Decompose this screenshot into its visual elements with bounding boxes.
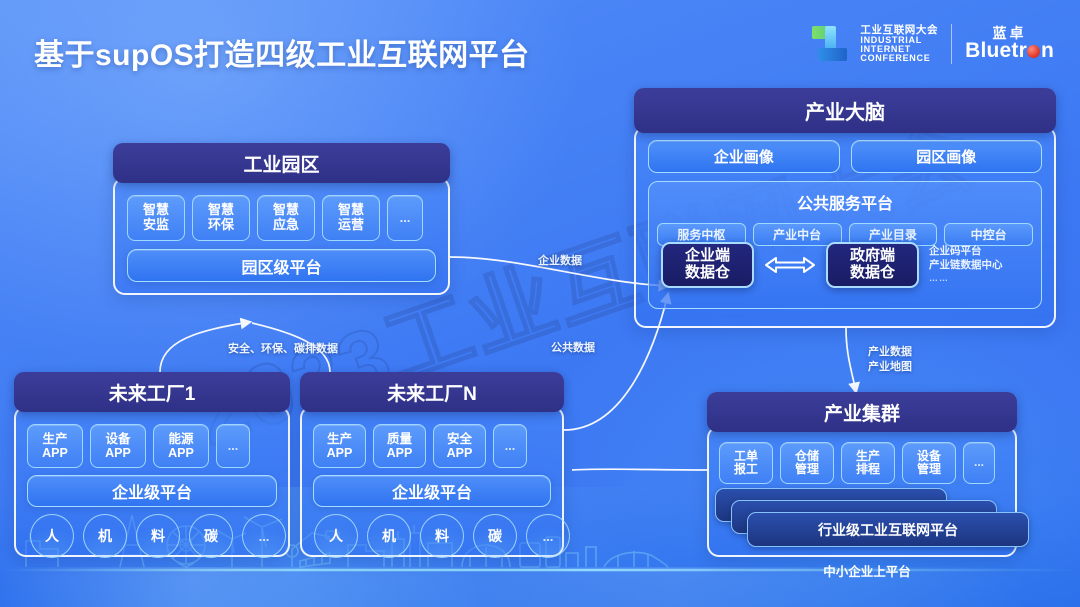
factory1-element-circles: 人 机 料 碳 ... [30, 514, 286, 558]
park-chip-0[interactable]: 智慧 安监 [127, 195, 185, 241]
park-chip-3[interactable]: 智慧 运营 [322, 195, 380, 241]
factoryn-platform-bar[interactable]: 企业级平台 [313, 475, 551, 507]
panel-future-factory-n[interactable]: 未来工厂N 生产 APP 质量 APP 安全 APP ... 企业级平台 人 机… [300, 372, 564, 557]
chip-line-1: 智慧 [143, 203, 169, 218]
factory1-chip-2[interactable]: 能源 APP [153, 424, 209, 468]
chip-line-1: 生产 [327, 432, 352, 446]
stack-card-front[interactable]: 行业级工业互联网平台 [747, 512, 1029, 547]
company-logo-en-suffix: n [1041, 39, 1054, 62]
edge-label-enterprise-data: 企业数据 [538, 252, 582, 268]
panel-title-future-factory-1: 未来工厂1 [14, 372, 290, 412]
factory1-chip-0[interactable]: 生产 APP [27, 424, 83, 468]
factory1-circle-0[interactable]: 人 [30, 514, 74, 558]
logo-divider [951, 24, 952, 64]
public-service-platform-title: 公共服务平台 [649, 190, 1041, 214]
cluster-chip-more[interactable]: ... [963, 442, 995, 484]
chip-line-1: 智慧 [208, 203, 234, 218]
chip-line-2: 应急 [273, 218, 299, 233]
company-logo-en-prefix: Bluetr [965, 39, 1027, 62]
chip-line-2: 管理 [917, 463, 941, 476]
factoryn-chip-1[interactable]: 质量 APP [373, 424, 426, 468]
warehouse-note: 企业码平台 产业链数据中心 …… [929, 245, 1003, 285]
cluster-chip-2[interactable]: 生产 排程 [841, 442, 895, 484]
chip-line-2: APP [387, 446, 413, 460]
warehouse-note-line-3: …… [929, 273, 1003, 285]
factory1-circle-2[interactable]: 料 [136, 514, 180, 558]
panel-title-industry-cluster: 产业集群 [707, 392, 1017, 432]
chip-line-1: 生产 [42, 432, 67, 446]
warehouse-line-2: 数据仓 [685, 265, 730, 282]
brand-bar: 工业互联网大会 INDUSTRIAL INTERNET CONFERENCE 蓝… [812, 24, 1054, 64]
chip-line-2: 报工 [734, 463, 758, 476]
chip-line-1: 工单 [734, 450, 758, 463]
chip-line-2: APP [447, 446, 473, 460]
park-chip-more[interactable]: ... [387, 195, 423, 241]
chip-line-1: 生产 [856, 450, 880, 463]
warehouse-line-1: 政府端 [850, 248, 895, 265]
company-logo-en: Bluetrn [965, 40, 1054, 62]
chip-line-2: 环保 [208, 218, 234, 233]
factoryn-circle-1[interactable]: 机 [367, 514, 411, 558]
factoryn-element-circles: 人 机 料 碳 ... [314, 514, 570, 558]
factoryn-chip-0[interactable]: 生产 APP [313, 424, 366, 468]
chip-line-2: 管理 [795, 463, 819, 476]
park-app-chip-row: 智慧 安监 智慧 环保 智慧 应急 智慧 运营 ... [127, 195, 423, 241]
chip-line-1: 智慧 [273, 203, 299, 218]
factoryn-circle-0[interactable]: 人 [314, 514, 358, 558]
chip-line-2: APP [42, 446, 68, 460]
factory1-platform-bar[interactable]: 企业级平台 [27, 475, 277, 507]
edge-label-industry-data-line1: 产业数据 [868, 345, 912, 360]
warehouse-enterprise[interactable]: 企业端 数据仓 [661, 242, 754, 288]
factoryn-chip-2[interactable]: 安全 APP [433, 424, 486, 468]
edge-label-safety: 安全、环保、碳排数据 [228, 340, 338, 356]
factory1-chip-1[interactable]: 设备 APP [90, 424, 146, 468]
cluster-app-chip-row: 工单 报工 仓储 管理 生产 排程 设备 管理 ... [719, 442, 995, 484]
factory1-circle-1[interactable]: 机 [83, 514, 127, 558]
factory1-circle-3[interactable]: 碳 [189, 514, 233, 558]
edge-label-public-data: 公共数据 [551, 339, 595, 355]
chip-line-2: 运营 [338, 218, 364, 233]
edge-label-industry-data-line2: 产业地图 [868, 360, 912, 375]
chip-line-1: 能源 [168, 432, 193, 446]
park-chip-2[interactable]: 智慧 应急 [257, 195, 315, 241]
chip-line-1: 安全 [447, 432, 472, 446]
page-title: 基于supOS打造四级工业互联网平台 [34, 30, 530, 74]
panel-title-industrial-park: 工业园区 [113, 143, 450, 183]
park-platform-bar[interactable]: 园区级平台 [127, 249, 436, 282]
conference-logo-cn: 工业互联网大会 [860, 25, 938, 36]
red-dot-icon [1027, 45, 1040, 58]
conference-logo: 工业互联网大会 INDUSTRIAL INTERNET CONFERENCE [812, 24, 938, 64]
warehouse-note-line-2: 产业链数据中心 [929, 259, 1003, 273]
cluster-note-sme-platform: 中小企业上平台 [707, 561, 1027, 580]
chip-line-1: 质量 [387, 432, 412, 446]
cluster-chip-0[interactable]: 工单 报工 [719, 442, 773, 484]
factory1-app-chip-row: 生产 APP 设备 APP 能源 APP ... [27, 424, 250, 468]
panel-title-future-factory-n: 未来工厂N [300, 372, 564, 412]
factoryn-circle-more[interactable]: ... [526, 514, 570, 558]
iic-t-mark-icon [812, 24, 852, 64]
panel-title-industry-brain: 产业大脑 [634, 88, 1056, 133]
panel-industrial-park[interactable]: 工业园区 智慧 安监 智慧 环保 智慧 应急 智慧 运营 ... 园区级平台 [113, 143, 450, 295]
chip-line-1: 设备 [105, 432, 130, 446]
factoryn-circle-2[interactable]: 料 [420, 514, 464, 558]
edge-label-industry-data: 产业数据 产业地图 [868, 345, 912, 375]
factory1-chip-more[interactable]: ... [216, 424, 250, 468]
chip-line-2: 排程 [856, 463, 880, 476]
warehouse-line-2: 数据仓 [850, 265, 895, 282]
brain-subcard-park-profile[interactable]: 园区画像 [851, 140, 1043, 173]
conference-logo-en-3: CONFERENCE [860, 54, 938, 63]
chip-line-2: APP [327, 446, 353, 460]
cluster-chip-1[interactable]: 仓储 管理 [780, 442, 834, 484]
factoryn-chip-more[interactable]: ... [493, 424, 527, 468]
factoryn-circle-3[interactable]: 碳 [473, 514, 517, 558]
public-service-platform: 公共服务平台 服务中枢 产业中台 产业目录 中控台 企业端 数据仓 政府端 数据… [648, 181, 1042, 309]
slide-canvas: 2023工业互联网大会 基于supOS打造四级工业互联网平台 工业互联网大会 I… [0, 0, 1080, 607]
factory1-circle-more[interactable]: ... [242, 514, 286, 558]
data-warehouse-row: 企业端 数据仓 政府端 数据仓 企业码平台 产业链数据中心 …… [661, 242, 1031, 288]
chip-line-2: APP [105, 446, 131, 460]
factoryn-app-chip-row: 生产 APP 质量 APP 安全 APP ... [313, 424, 527, 468]
chip-line-1: 智慧 [338, 203, 364, 218]
chip-line-2: 安监 [143, 218, 169, 233]
park-chip-1[interactable]: 智慧 环保 [192, 195, 250, 241]
chip-line-1: 仓储 [795, 450, 819, 463]
warehouse-government[interactable]: 政府端 数据仓 [826, 242, 919, 288]
company-logo: 蓝卓 Bluetrn [965, 26, 1054, 63]
double-arrow-icon [762, 250, 818, 280]
company-logo-cn: 蓝卓 [965, 26, 1054, 41]
brain-subcard-row: 企业画像 园区画像 [648, 140, 1042, 173]
warehouse-line-1: 企业端 [685, 248, 730, 265]
cluster-chip-3[interactable]: 设备 管理 [902, 442, 956, 484]
chip-line-2: APP [168, 446, 194, 460]
warehouse-note-line-1: 企业码平台 [929, 245, 1003, 259]
panel-industry-brain[interactable]: 产业大脑 企业画像 园区画像 公共服务平台 服务中枢 产业中台 产业目录 中控台… [634, 88, 1056, 328]
industry-platform-stack: 行业级工业互联网平台 [707, 488, 1027, 552]
panel-future-factory-1[interactable]: 未来工厂1 生产 APP 设备 APP 能源 APP ... 企业级平台 人 机… [14, 372, 290, 557]
brain-subcard-enterprise-profile[interactable]: 企业画像 [648, 140, 840, 173]
chip-line-1: 设备 [917, 450, 941, 463]
